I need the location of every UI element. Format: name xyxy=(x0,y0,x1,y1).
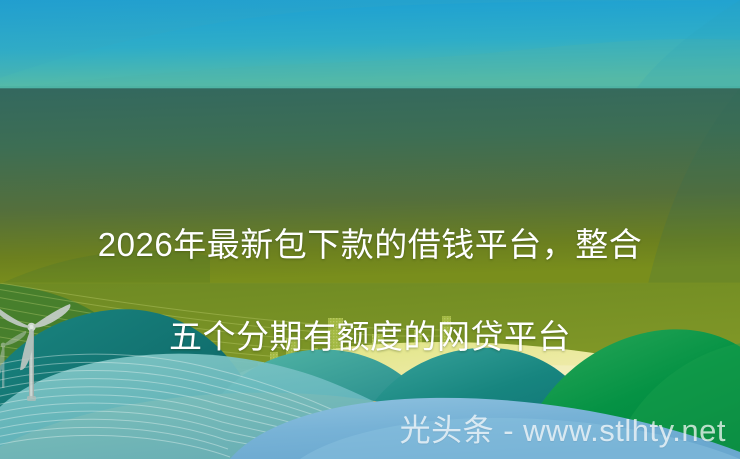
banner-image: 2026年最新包下款的借钱平台，整合 五个分期有额度的网贷平台 光头条 - ww… xyxy=(0,0,740,459)
scene-band xyxy=(0,283,740,459)
banner-artwork xyxy=(0,0,740,459)
sky-band xyxy=(0,0,740,89)
field-band xyxy=(0,88,740,284)
